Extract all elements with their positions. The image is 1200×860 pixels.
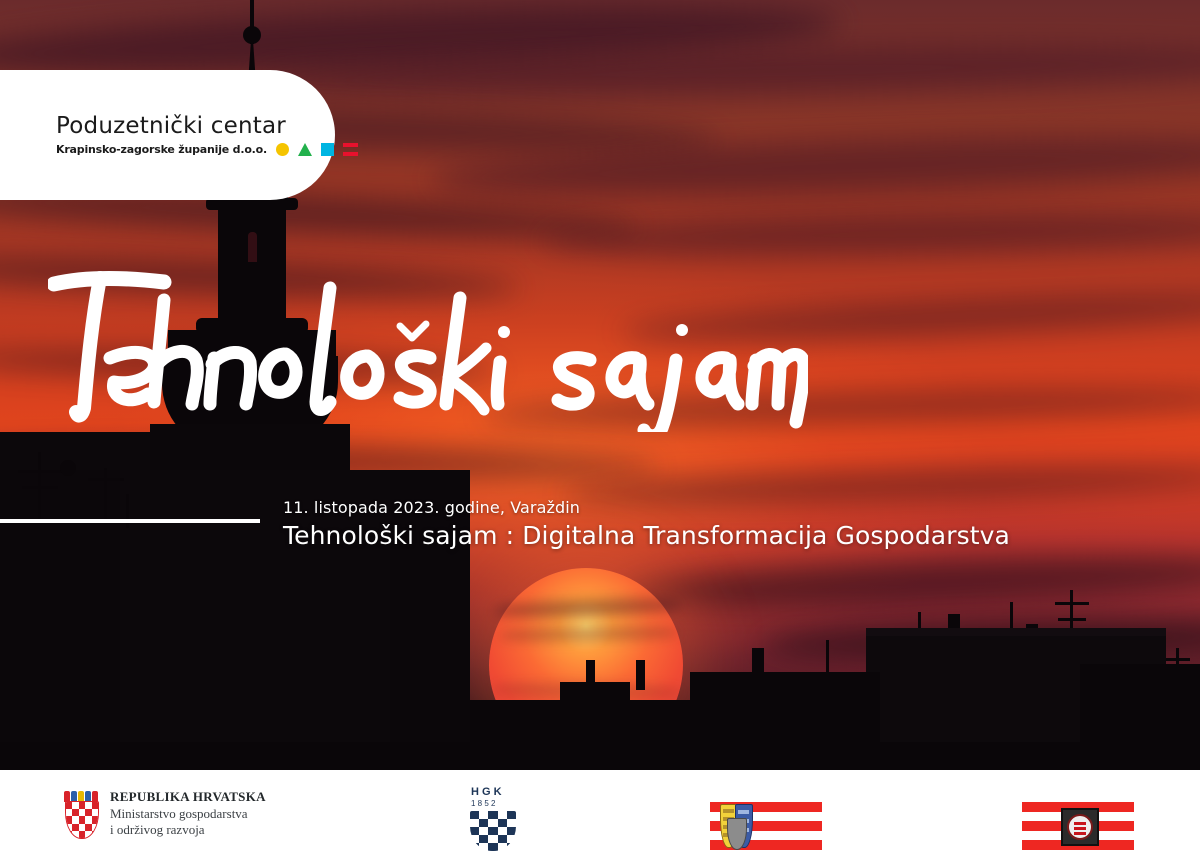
green-triangle-icon <box>298 143 312 156</box>
yellow-circle-icon <box>276 143 289 156</box>
event-date-location: 11. listopada 2023. godine, Varaždin <box>283 498 1163 517</box>
subtitle-rule <box>0 519 260 523</box>
logo-subtitle: Krapinsko-zagorske županije d.o.o. <box>56 143 267 156</box>
grad-varazdin-flag-icon <box>1022 798 1134 854</box>
foreground-dark-band <box>0 742 1200 770</box>
hgk-letters: H G K <box>471 786 515 798</box>
event-title-line: Tehnološki sajam : Digitalna Transformac… <box>283 522 1163 551</box>
footer-logo-bar: REPUBLIKA HRVATSKA Ministarstvo gospodar… <box>0 770 1200 860</box>
footer-logo-varazdinska-zupanija[interactable] <box>710 798 822 854</box>
footer-logo-line1: REPUBLIKA HRVATSKA <box>110 789 266 806</box>
hgk-logo-icon: H G K 1 8 5 2 <box>465 786 521 848</box>
footer-logo-grad-varazdin[interactable] <box>1022 798 1134 854</box>
red-equals-icon <box>343 143 358 156</box>
croatian-coat-of-arms-icon <box>62 791 100 837</box>
varazdinska-zupanija-flag-icon <box>710 798 822 854</box>
footer-logo-republika-hrvatska[interactable]: REPUBLIKA HRVATSKA Ministarstvo gospodar… <box>62 789 266 839</box>
poster-root: Poduzetnički centar Krapinsko-zagorske ž… <box>0 0 1200 860</box>
subtitle-block: 11. listopada 2023. godine, Varaždin Teh… <box>283 498 1163 551</box>
footer-logo-hgk[interactable]: H G K 1 8 5 2 <box>465 786 521 848</box>
headline-tehnoloski-sajam <box>48 262 808 432</box>
footer-logo-line3: i održivog razvoja <box>110 822 266 839</box>
hgk-year: 1 8 5 2 <box>471 799 515 808</box>
footer-logo-line2: Ministarstvo gospodarstva <box>110 806 266 823</box>
cyan-square-icon <box>321 143 334 156</box>
logo-title: Poduzetnički centar <box>56 114 358 138</box>
organizer-logo-card[interactable]: Poduzetnički centar Krapinsko-zagorske ž… <box>0 70 335 200</box>
